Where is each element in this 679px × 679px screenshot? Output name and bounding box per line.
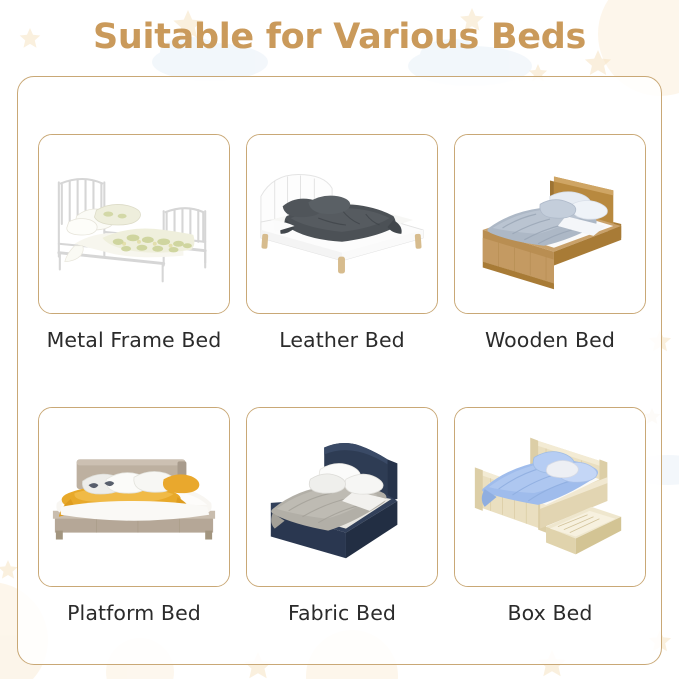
bed-card-box-bed[interactable] <box>454 407 646 587</box>
bed-card-fabric-bed[interactable] <box>246 407 438 587</box>
bed-types-panel: Metal Frame Bed <box>17 76 662 665</box>
page-title: Suitable for Various Beds <box>0 17 679 57</box>
box-bed-illustration <box>455 408 645 586</box>
bed-cell-metal-frame-bed: Metal Frame Bed <box>38 134 230 352</box>
bed-cell-platform-bed: Platform Bed <box>38 407 230 625</box>
bed-label-wooden-bed: Wooden Bed <box>454 328 646 352</box>
platform-bed-illustration <box>39 408 229 586</box>
star-icon <box>0 560 18 579</box>
wooden-bed-illustration <box>455 135 645 313</box>
bed-label-metal-frame-bed: Metal Frame Bed <box>38 328 230 352</box>
bed-label-box-bed: Box Bed <box>454 601 646 625</box>
bed-card-leather-bed[interactable] <box>246 134 438 314</box>
bed-cell-fabric-bed: Fabric Bed <box>246 407 438 625</box>
bed-card-platform-bed[interactable] <box>38 407 230 587</box>
bed-label-fabric-bed: Fabric Bed <box>246 601 438 625</box>
bed-types-grid: Metal Frame Bed <box>18 77 663 666</box>
bed-card-metal-frame-bed[interactable] <box>38 134 230 314</box>
bed-label-platform-bed: Platform Bed <box>38 601 230 625</box>
leather-bed-illustration <box>247 135 437 313</box>
fabric-bed-illustration <box>247 408 437 586</box>
bed-label-leather-bed: Leather Bed <box>246 328 438 352</box>
metal-frame-bed-illustration <box>39 135 229 313</box>
bed-cell-leather-bed: Leather Bed <box>246 134 438 352</box>
bed-cell-box-bed: Box Bed <box>454 407 646 625</box>
bed-card-wooden-bed[interactable] <box>454 134 646 314</box>
bed-cell-wooden-bed: Wooden Bed <box>454 134 646 352</box>
